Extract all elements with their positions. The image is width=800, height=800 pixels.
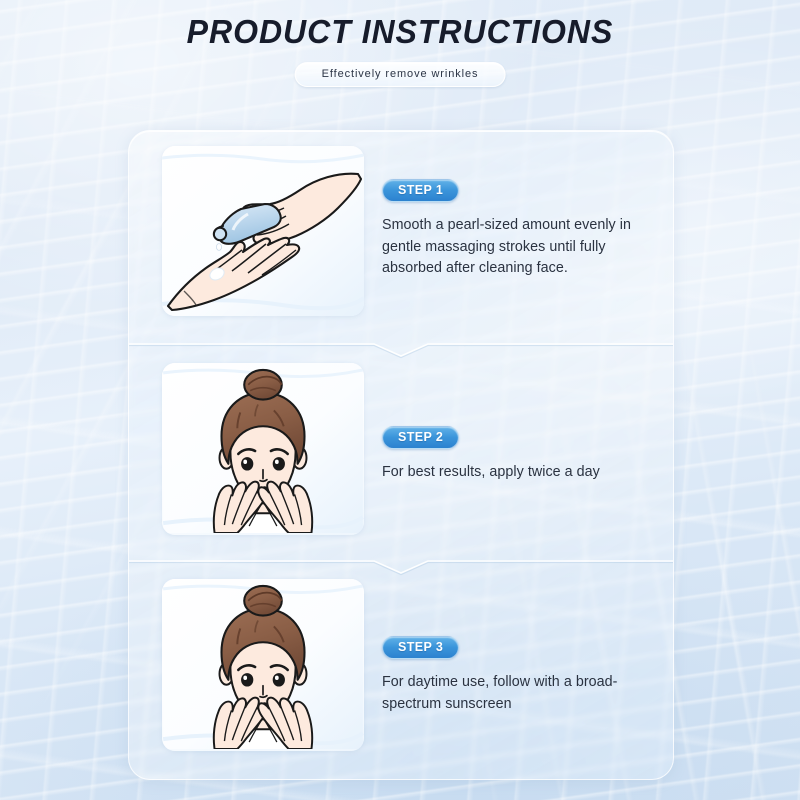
- step-1-illustration-card: [162, 146, 364, 316]
- step-3-description: For daytime use, follow with a broad-spe…: [382, 672, 654, 715]
- woman-massaging-face-icon: [162, 579, 364, 749]
- step-2-description: For best results, apply twice a day: [382, 462, 654, 484]
- step-1-text-column: STEP 1 Smooth a pearl-sized amount evenl…: [382, 179, 654, 280]
- step-row-1: STEP 1 Smooth a pearl-sized amount evenl…: [129, 131, 673, 348]
- tagline-badge: Effectively remove wrinkles: [295, 62, 506, 87]
- step-2-text-column: STEP 2 For best results, apply twice a d…: [382, 426, 654, 484]
- step-2-badge: STEP 2: [382, 426, 459, 449]
- page-title: PRODUCT INSTRUCTIONS: [12, 13, 788, 51]
- step-3-text-column: STEP 3 For daytime use, follow with a br…: [382, 636, 654, 715]
- step-row-3: STEP 3 For daytime use, follow with a br…: [129, 564, 673, 780]
- product-instructions-page: PRODUCT INSTRUCTIONS Effectively remove …: [0, 0, 800, 800]
- step-2-illustration-card: [162, 363, 364, 535]
- instructions-panel: STEP 1 Smooth a pearl-sized amount evenl…: [128, 130, 674, 780]
- step-3-badge: STEP 3: [382, 636, 459, 659]
- step-1-badge: STEP 1: [382, 179, 459, 202]
- hand-dispensing-cream-into-palm-icon: [162, 146, 364, 316]
- step-3-illustration-card: [162, 579, 364, 751]
- woman-massaging-face-icon: [162, 363, 364, 533]
- step-row-2: STEP 2 For best results, apply twice a d…: [129, 348, 673, 565]
- step-1-description: Smooth a pearl-sized amount evenly in ge…: [382, 215, 654, 280]
